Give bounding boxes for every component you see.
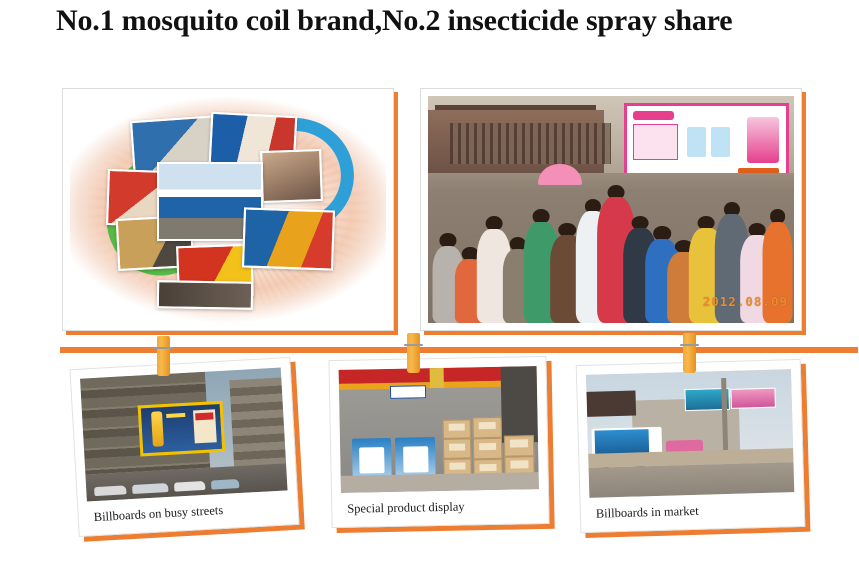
clothesline-divider xyxy=(60,347,858,353)
slide-canvas: No.1 mosquito coil brand,No.2 insecticid… xyxy=(0,0,859,569)
collage-ring xyxy=(102,110,355,310)
special-product-display-photo xyxy=(339,366,539,493)
collage-tile xyxy=(242,208,335,271)
photo-card-billboards-in-market[interactable]: Billboards in market xyxy=(576,359,806,533)
billboards-busy-streets-photo xyxy=(80,368,288,502)
photo-caption: Special product display xyxy=(341,489,540,527)
clothespin-icon xyxy=(683,333,696,373)
street-billboard xyxy=(138,400,225,456)
photo-card-billboards-busy-streets[interactable]: Billboards on busy streets xyxy=(69,357,299,537)
roadshow-crowd-photo: 2012.08.09 xyxy=(428,96,794,323)
collage-tile xyxy=(260,149,322,203)
billboards-in-market-photo xyxy=(586,369,794,498)
clothespin-icon xyxy=(157,336,170,376)
photo-timestamp: 2012.08.09 xyxy=(703,294,788,309)
clothespin-icon xyxy=(407,333,420,373)
page-title: No.1 mosquito coil brand,No.2 insecticid… xyxy=(56,2,846,40)
photo-frame-marketing-collage[interactable] xyxy=(62,88,394,331)
photo-card-special-product-display[interactable]: Special product display xyxy=(328,356,549,528)
photo-frame-roadshow-crowd[interactable]: 2012.08.09 xyxy=(420,88,802,331)
marketing-activity-collage xyxy=(70,96,386,323)
photo-caption: Billboards in market xyxy=(589,492,795,532)
collage-tile xyxy=(157,281,254,311)
market-billboard-pink xyxy=(730,388,776,409)
